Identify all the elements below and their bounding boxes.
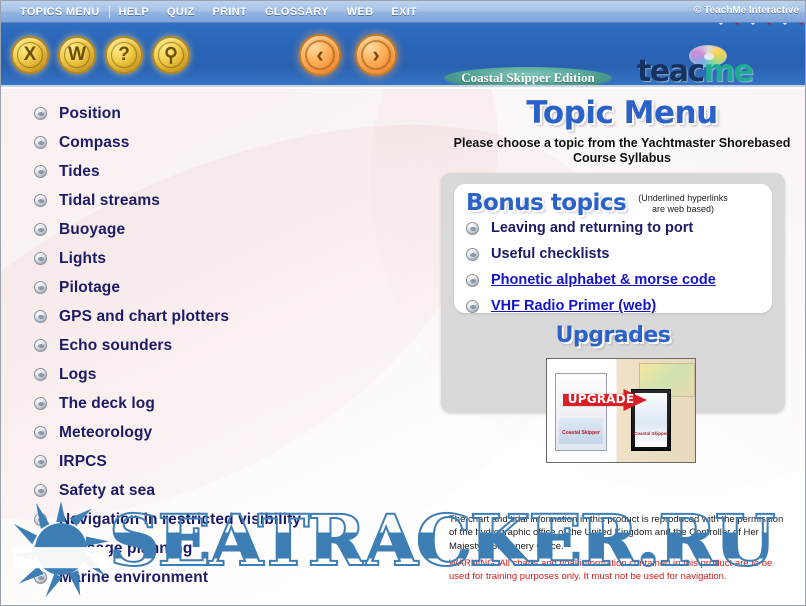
content-area: Position Compass Tides Tidal streams Buo…	[1, 89, 806, 606]
chevron-right-icon: ›	[357, 36, 395, 74]
search-icon: ⚲	[164, 44, 178, 67]
help-coin-button[interactable]: ?	[105, 36, 143, 74]
web-coin-button[interactable]: W	[58, 36, 96, 74]
disc-bullet-icon	[34, 571, 47, 584]
chevron-left-icon: ‹	[301, 36, 339, 74]
main-toolbar: X W ? ⚲ ‹ › Coastal Skipper Edition teac…	[1, 23, 806, 87]
search-coin-button[interactable]: ⚲	[152, 36, 190, 74]
topic-item-passage-planning[interactable]: Passage planning	[34, 534, 434, 563]
topic-item-echo-sounders[interactable]: Echo sounders	[34, 331, 434, 360]
disc-bullet-icon	[34, 339, 47, 352]
disc-bullet-icon	[34, 165, 47, 178]
bonus-label: Leaving and returning to port	[491, 220, 693, 236]
logo-part-2: me	[704, 54, 753, 87]
menu-item-print[interactable]: PRINT	[204, 6, 257, 18]
disc-bullet-icon	[34, 397, 47, 410]
topic-label: Passage planning	[59, 540, 192, 558]
topic-label: Compass	[59, 134, 129, 152]
topic-label: Meteorology	[59, 424, 152, 442]
upgrades-title: Upgrades	[441, 323, 785, 348]
bonus-header: Bonus topics (Underlined hyperlinks are …	[466, 192, 760, 215]
topic-item-logs[interactable]: Logs	[34, 360, 434, 389]
disc-bullet-icon	[34, 513, 47, 526]
disc-bullet-icon	[34, 455, 47, 468]
forward-button[interactable]: ›	[355, 34, 397, 76]
disc-bullet-icon	[34, 281, 47, 294]
menu-item-topics-menu[interactable]: TOPICS MENU	[11, 6, 109, 18]
bonus-item-phonetic-alphabet-morse-code[interactable]: Phonetic alphabet & morse code	[466, 267, 760, 293]
topic-item-safety-at-sea[interactable]: Safety at sea	[34, 476, 434, 505]
disc-bullet-icon	[34, 194, 47, 207]
top-menu-bar: TOPICS MENU HELP QUIZ PRINT GLOSSARY WEB…	[1, 1, 806, 23]
menu-item-quiz[interactable]: QUIZ	[158, 6, 203, 18]
page-title: Topic Menu	[437, 95, 806, 131]
disc-bullet-icon	[34, 107, 47, 120]
menu-item-glossary[interactable]: GLOSSARY	[256, 6, 338, 18]
bonus-link-label[interactable]: VHF Radio Primer (web)	[491, 298, 656, 314]
page-subtitle: Please choose a topic from the Yachtmast…	[437, 136, 806, 167]
disc-bullet-icon	[34, 252, 47, 265]
bonus-topics-title: Bonus topics	[466, 192, 626, 215]
topic-label: Navigation in restricted visibility	[59, 511, 301, 529]
question-mark-icon: ?	[118, 44, 130, 66]
topic-label: The deck log	[59, 395, 155, 413]
dvd-title-text: Coastal Skipper	[634, 431, 668, 436]
topic-label: Logs	[59, 366, 96, 384]
topic-label: Position	[59, 105, 121, 123]
upgrade-promo-image[interactable]: Coastal Skipper Coastal Skipper UPGRADE	[546, 358, 696, 463]
web-coin-glyph: W	[68, 44, 86, 66]
topic-label: GPS and chart plotters	[59, 308, 229, 326]
topic-list: Position Compass Tides Tidal streams Buo…	[34, 99, 434, 592]
topic-item-compass[interactable]: Compass	[34, 128, 434, 157]
bonus-topics-card: Bonus topics (Underlined hyperlinks are …	[454, 184, 772, 313]
upgrade-banner-text: UPGRADE	[567, 392, 635, 406]
topic-item-pilotage[interactable]: Pilotage	[34, 273, 434, 302]
exit-coin-glyph: X	[24, 44, 37, 66]
topic-item-meteorology[interactable]: Meteorology	[34, 418, 434, 447]
topic-item-tides[interactable]: Tides	[34, 157, 434, 186]
disc-bullet-icon	[34, 223, 47, 236]
bonus-and-upgrades-panel: Bonus topics (Underlined hyperlinks are …	[441, 173, 785, 413]
exit-coin-button[interactable]: X	[11, 36, 49, 74]
bonus-label: Useful checklists	[491, 246, 609, 262]
topic-label: Tides	[59, 163, 100, 181]
disc-bullet-icon	[34, 310, 47, 323]
menu-item-web[interactable]: WEB	[338, 6, 383, 18]
disc-bullet-icon	[466, 222, 479, 235]
topic-item-navigation-in-restricted-visibility[interactable]: Navigation in restricted visibility	[34, 505, 434, 534]
bonus-item-useful-checklists[interactable]: Useful checklists	[466, 241, 760, 267]
copyright-label: © TeachMe Interactive	[694, 5, 799, 16]
edition-badge: Coastal Skipper Edition	[444, 67, 612, 87]
topic-item-gps-and-chart-plotters[interactable]: GPS and chart plotters	[34, 302, 434, 331]
topic-item-lights[interactable]: Lights	[34, 244, 434, 273]
disc-bullet-icon	[34, 368, 47, 381]
bonus-item-leaving-and-returning-to-port[interactable]: Leaving and returning to port	[466, 215, 760, 241]
disc-bullet-icon	[34, 426, 47, 439]
upgrade-boxed-product: Coastal Skipper	[555, 373, 607, 451]
topic-label: Pilotage	[59, 279, 120, 297]
disc-bullet-icon	[466, 274, 479, 287]
topic-item-buoyage[interactable]: Buoyage	[34, 215, 434, 244]
topic-label: Buoyage	[59, 221, 125, 239]
disc-bullet-icon	[466, 248, 479, 261]
topic-item-marine-environment[interactable]: Marine environment	[34, 563, 434, 592]
navigation-warning: WARNING: All charts and tidal informatio…	[449, 557, 789, 584]
topic-item-irpcs[interactable]: IRPCS	[34, 447, 434, 476]
topic-label: Marine environment	[59, 569, 208, 587]
product-title-text: Coastal Skipper	[560, 430, 602, 436]
topic-item-the-deck-log[interactable]: The deck log	[34, 389, 434, 418]
topic-label: Lights	[59, 250, 106, 268]
logo-subline: toSAIL	[685, 86, 740, 87]
application-window: TOPICS MENU HELP QUIZ PRINT GLOSSARY WEB…	[0, 0, 806, 606]
topic-label: IRPCS	[59, 453, 107, 471]
menu-item-exit[interactable]: EXIT	[382, 6, 426, 18]
bonus-topics-note: (Underlined hyperlinks are web based)	[638, 193, 728, 215]
topic-item-tidal-streams[interactable]: Tidal streams	[34, 186, 434, 215]
back-button[interactable]: ‹	[299, 34, 341, 76]
hydrographic-disclaimer: The chart and tidal information in this …	[449, 513, 789, 553]
bonus-link-label[interactable]: Phonetic alphabet & morse code	[491, 272, 716, 288]
bonus-item-vhf-radio-primer[interactable]: VHF Radio Primer (web)	[466, 293, 760, 319]
disc-bullet-icon	[34, 136, 47, 149]
teachme-to-sail-logo: teacme toSAIL	[637, 45, 769, 87]
logo-wordmark: teacme	[637, 57, 752, 87]
topic-label: Safety at sea	[59, 482, 155, 500]
disc-bullet-icon	[34, 542, 47, 555]
topic-label: Echo sounders	[59, 337, 172, 355]
menu-item-help[interactable]: HELP	[110, 6, 159, 18]
topic-label: Tidal streams	[59, 192, 160, 210]
disc-bullet-icon	[466, 300, 479, 313]
logo-part-1: teac	[637, 54, 704, 87]
logo-sub-sail: SAIL	[698, 84, 741, 87]
disc-bullet-icon	[34, 484, 47, 497]
topic-item-position[interactable]: Position	[34, 99, 434, 128]
